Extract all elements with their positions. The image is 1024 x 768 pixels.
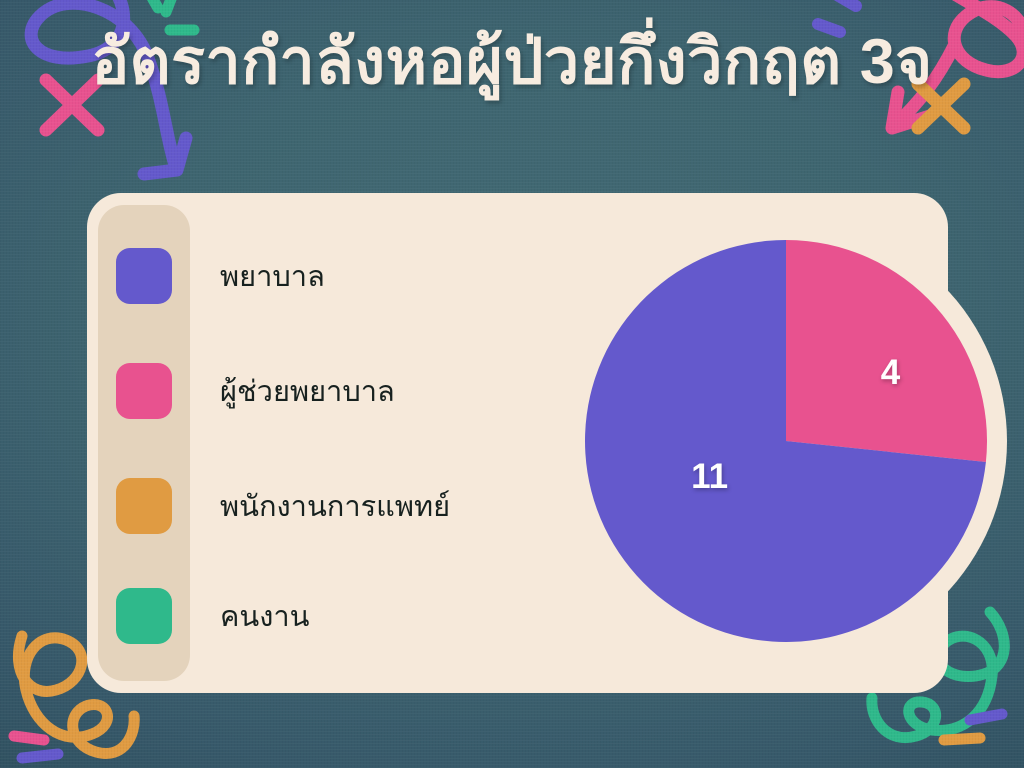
legend-item-label: คนงาน xyxy=(220,593,310,639)
pie-slice[interactable] xyxy=(786,240,987,462)
legend-item[interactable]: พนักงานการแพทย์ xyxy=(98,471,450,541)
legend-item-label: พยาบาล xyxy=(220,253,325,299)
pie-chart-svg xyxy=(585,240,987,642)
legend-swatch-icon xyxy=(116,248,172,304)
arrow-head-icon xyxy=(144,138,186,174)
legend-swatch-icon xyxy=(116,588,172,644)
pie-slice-value-label: 4 xyxy=(881,353,900,393)
chart-legend: พยาบาลผู้ช่วยพยาบาลพนักงานการแพทย์คนงาน xyxy=(98,205,528,681)
dash-icon xyxy=(14,736,44,740)
legend-swatch-icon xyxy=(116,363,172,419)
dash-icon xyxy=(944,738,980,740)
legend-item[interactable]: ผู้ช่วยพยาบาล xyxy=(98,356,395,426)
pie-chart: 114 xyxy=(585,240,987,642)
pie-slice-value-label: 11 xyxy=(691,457,728,497)
slide-title: อัตรากำลังหอผู้ป่วยกึ่งวิกฤต 3จ xyxy=(0,26,1024,98)
legend-item[interactable]: พยาบาล xyxy=(98,241,325,311)
legend-item-label: ผู้ช่วยพยาบาล xyxy=(220,368,395,414)
legend-item-label: พนักงานการแพทย์ xyxy=(220,483,450,529)
legend-item[interactable]: คนงาน xyxy=(98,581,310,651)
legend-swatch-icon xyxy=(116,478,172,534)
dash-icon xyxy=(970,714,1002,720)
dash-icon xyxy=(22,754,58,758)
slide-canvas: อัตรากำลังหอผู้ป่วยกึ่งวิกฤต 3จ พยาบาลผู… xyxy=(0,0,1024,768)
